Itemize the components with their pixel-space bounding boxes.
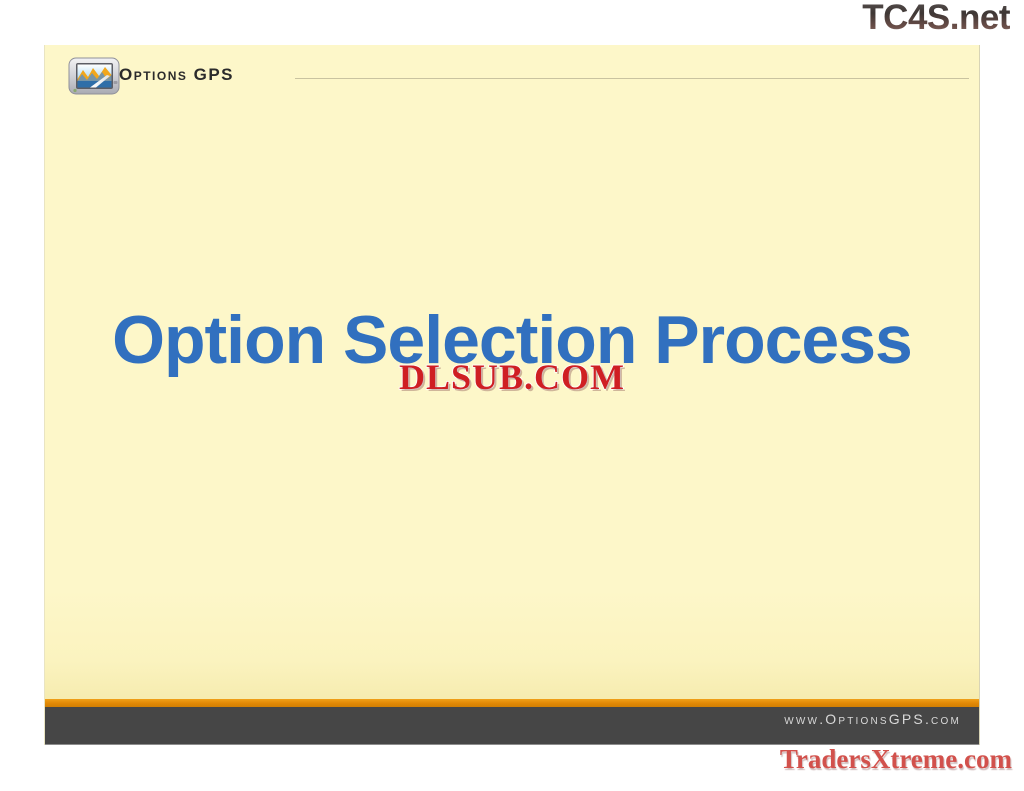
footer-accent-stripe (45, 699, 979, 707)
slide-body: Option Selection Process (45, 103, 979, 699)
slide-header: Options GPS (45, 45, 979, 103)
header-divider (295, 78, 969, 79)
gps-device-icon (66, 55, 122, 97)
watermark-tradersxtreme: TradersXtreme.com (780, 743, 1012, 775)
slide-footer: www.OptionsGPS.com (45, 699, 979, 745)
footer-url: www.OptionsGPS.com (784, 711, 961, 727)
watermark-tc4s: TC4S.net (862, 0, 1010, 38)
presentation-slide: Options GPS Option Selection Process DLS… (44, 45, 980, 745)
slide-page: TC4S.net (0, 0, 1024, 791)
brand-label: Options GPS (119, 65, 234, 85)
watermark-dlsub: DLSUB.COM (45, 357, 979, 397)
